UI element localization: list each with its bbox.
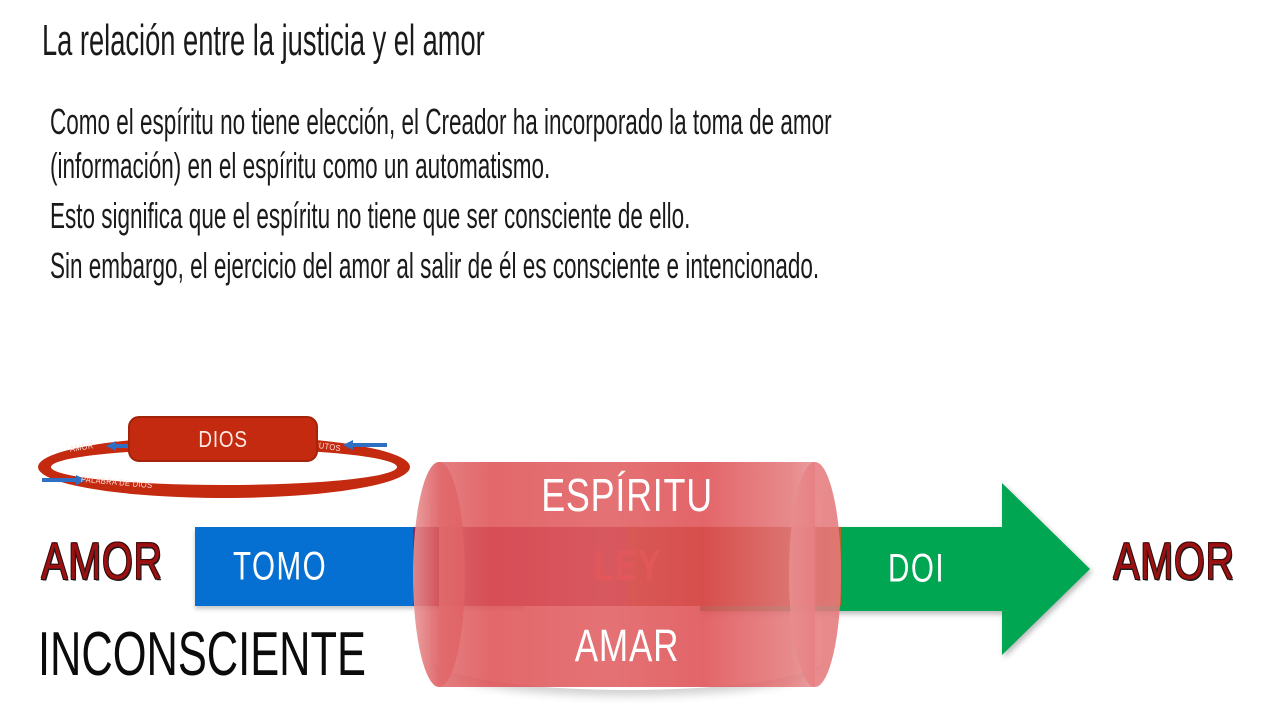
output-label-amor: AMOR (1094, 532, 1254, 592)
core-label-ley: LEY (413, 542, 841, 591)
love-justice-diagram: AMOR PALABRA DE DIOS FRUTOS DIOS TOMO DO… (0, 390, 1280, 720)
dios-box: DIOS (128, 416, 318, 462)
palabra-arrow-icon (42, 475, 86, 484)
dios-label: DIOS (198, 426, 247, 453)
frutos-arrow-icon (343, 440, 387, 449)
paragraph-3-line-1: Sin embargo, el ejercicio del amor al sa… (50, 244, 1238, 288)
body-text-block: Como el espíritu no tiene elección, el C… (50, 100, 1250, 294)
paragraph-1-line-1: Como el espíritu no tiene elección, el C… (50, 100, 1238, 144)
paragraph-2: Esto significa que el espíritu no tiene … (50, 194, 1238, 238)
state-label-inconsciente: INCONSCIENTE (38, 619, 506, 690)
paragraph-1: Como el espíritu no tiene elección, el C… (50, 100, 1238, 188)
slide-canvas: La relación entre la justicia y el amor … (0, 0, 1280, 720)
doi-label: DOI (888, 547, 945, 592)
tomo-label: TOMO (233, 544, 327, 589)
input-label-amor: AMOR (22, 532, 182, 592)
paragraph-2-line-1: Esto significa que el espíritu no tiene … (50, 194, 1238, 238)
paragraph-3: Sin embargo, el ejercicio del amor al sa… (50, 244, 1238, 288)
paragraph-1-line-2: (información) en el espíritu como un aut… (50, 144, 1238, 188)
core-label-espiritu: ESPÍRITU (413, 468, 841, 522)
page-title: La relación entre la justicia y el amor (42, 18, 485, 64)
god-cycle-group: AMOR PALABRA DE DIOS FRUTOS DIOS (18, 408, 418, 513)
